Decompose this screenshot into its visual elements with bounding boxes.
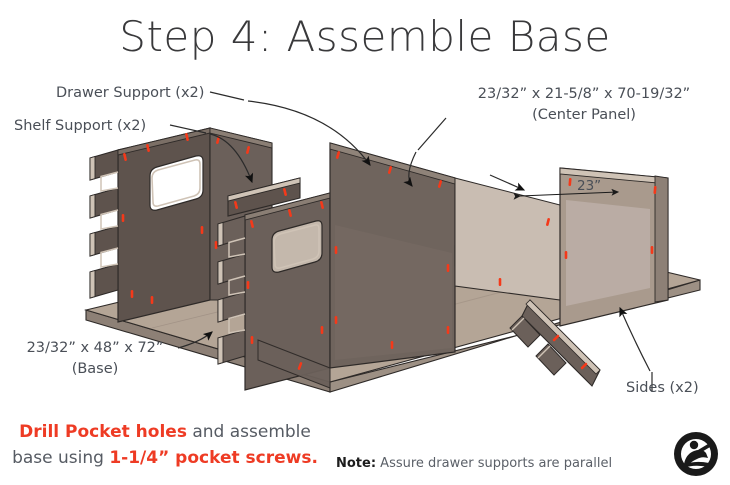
plan-page: Step 4: Assemble Base xyxy=(0,0,730,485)
center-panel-name: (Center Panel) xyxy=(450,105,718,126)
base-name: (Base) xyxy=(10,359,180,380)
note-text: Note: Assure drawer supports are paralle… xyxy=(336,456,612,471)
label-base: 23/32” x 48” x 72” (Base) xyxy=(10,338,180,379)
label-drawer-support: Drawer Support (x2) xyxy=(56,83,204,104)
instruction-highlight-1: Drill Pocket holes xyxy=(19,422,187,442)
right-inner-panel xyxy=(455,178,560,300)
label-center-panel: 23/32” x 21-5/8” x 70-19/32” (Center Pan… xyxy=(450,84,718,125)
instruction-plain-2: base using xyxy=(12,448,109,468)
label-shelf-support: Shelf Support (x2) xyxy=(14,116,146,137)
instruction-text: Drill Pocket holes and assemble base usi… xyxy=(6,420,324,472)
instruction-highlight-2: 1-1/4” pocket screws. xyxy=(109,448,318,468)
center-panel xyxy=(330,143,455,368)
label-sides: Sides (x2) xyxy=(626,378,699,399)
base-dims: 23/32” x 48” x 72” xyxy=(27,340,164,356)
label-width-dimension: 23” xyxy=(577,177,601,196)
woodworking-brand-logo-icon xyxy=(672,430,720,478)
left-side-panel xyxy=(90,128,210,322)
note-body: Assure drawer supports are parallel xyxy=(376,456,612,471)
assembly-drawing xyxy=(0,0,730,485)
note-key: Note: xyxy=(336,456,376,471)
instruction-plain-1: and assemble xyxy=(187,422,311,442)
center-panel-dims: 23/32” x 21-5/8” x 70-19/32” xyxy=(478,86,690,102)
